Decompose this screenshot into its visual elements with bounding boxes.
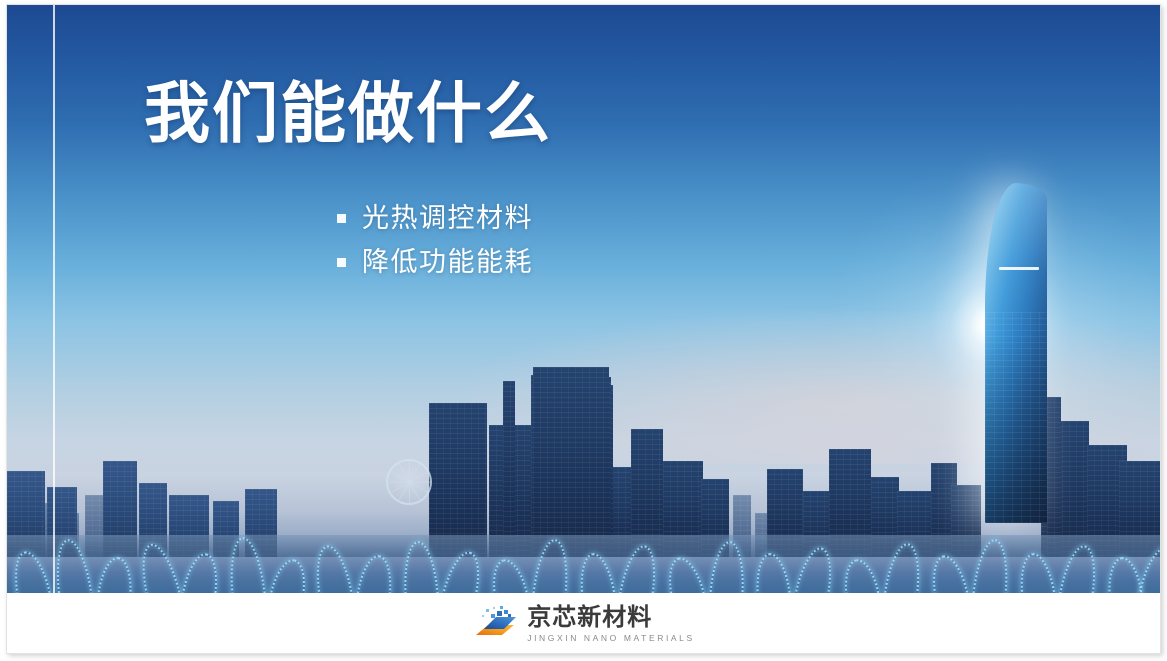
hero-background-image: 我们能做什么 光热调控材料 降低功能能耗: [7, 5, 1161, 593]
square-bullet-icon: [337, 214, 346, 223]
left-accent-rule: [53, 5, 55, 593]
slide-frame: 我们能做什么 光热调控材料 降低功能能耗: [6, 4, 1161, 654]
logo-name-en: JINGXIN NANO MATERIALS: [527, 634, 695, 643]
slide-footer: 京芯新材料 JINGXIN NANO MATERIALS: [7, 593, 1161, 654]
square-bullet-icon: [337, 258, 346, 267]
bullet-label: 光热调控材料: [362, 197, 533, 241]
network-dot-overlay: [7, 503, 1161, 593]
curved-skyscraper-landmark: [985, 183, 1047, 523]
slide-title: 我们能做什么: [144, 79, 552, 148]
jingxin-pixel-rhombus-logo-mark: [474, 605, 518, 643]
logo-name-cn: 京芯新材料: [527, 606, 695, 630]
tower-light-band: [999, 267, 1039, 270]
company-logo: 京芯新材料 JINGXIN NANO MATERIALS: [474, 605, 695, 643]
bullet-label: 降低功能能耗: [362, 241, 533, 285]
ferris-wheel-icon: [386, 459, 432, 505]
list-item: 光热调控材料: [337, 197, 533, 241]
bullet-list: 光热调控材料 降低功能能耗: [337, 197, 533, 284]
list-item: 降低功能能耗: [337, 241, 533, 285]
